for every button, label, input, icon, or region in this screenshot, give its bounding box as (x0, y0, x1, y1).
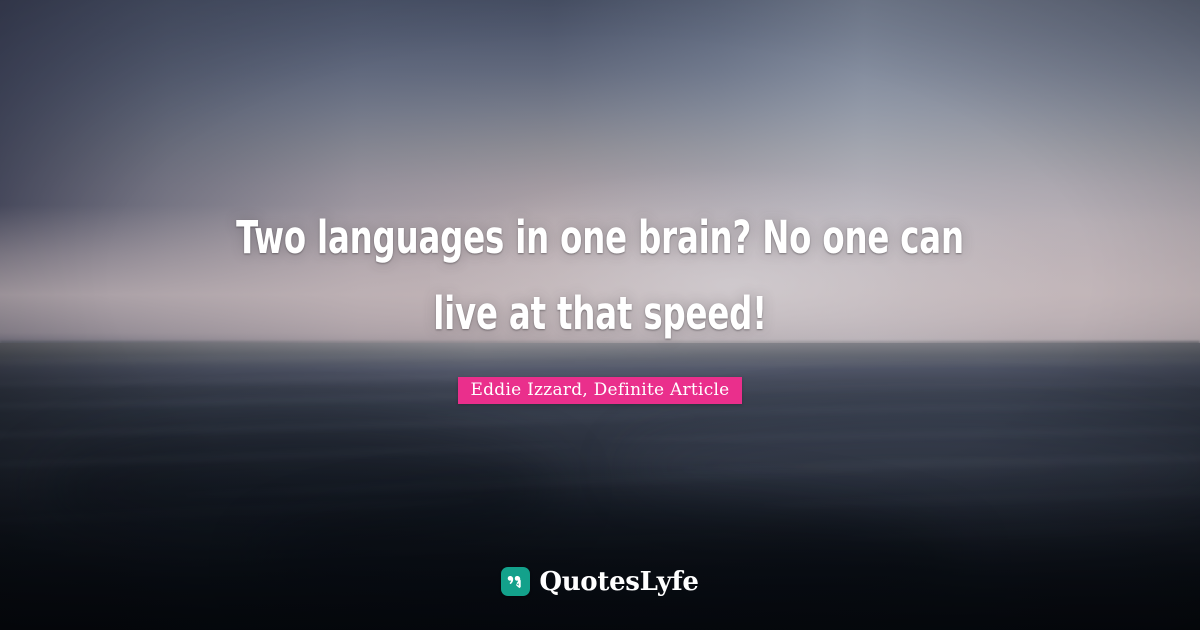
quote-mark-icon (501, 567, 530, 596)
brand-logo[interactable]: QuotesLyfe (0, 567, 1200, 596)
quote-card: Two languages in one brain? No one can l… (0, 0, 1200, 630)
brand-wordmark: QuotesLyfe (539, 569, 698, 595)
attribution-area: Eddie Izzard, Definite Article (0, 377, 1200, 404)
quote-text: Two languages in one brain? No one can l… (208, 200, 992, 352)
quote-block: Two languages in one brain? No one can l… (0, 200, 1200, 352)
card-content: Two languages in one brain? No one can l… (0, 0, 1200, 630)
attribution-badge: Eddie Izzard, Definite Article (458, 377, 743, 404)
